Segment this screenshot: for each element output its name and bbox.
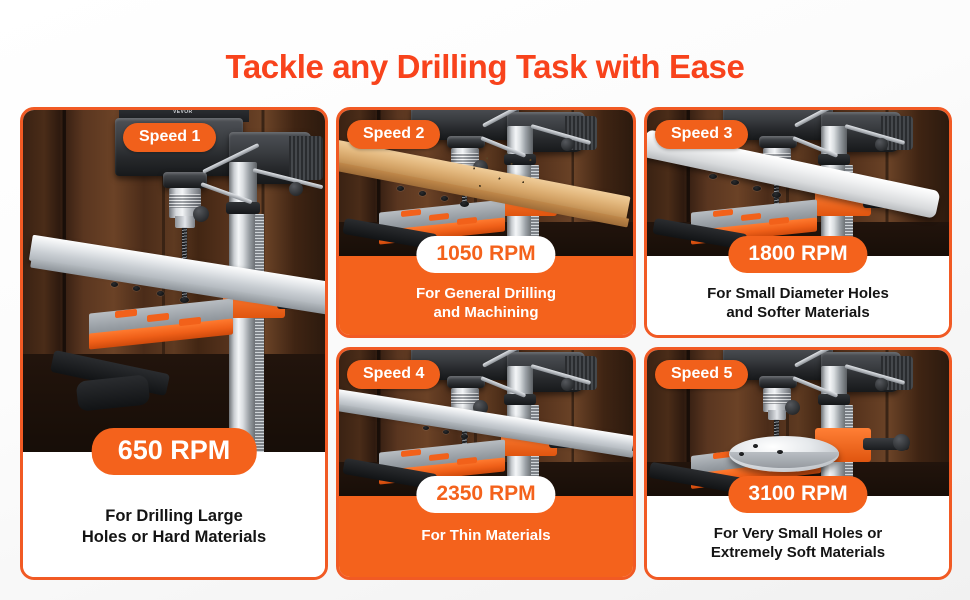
speed-panel-2[interactable]: Speed 2 1050 RPM For General Drilling an… (336, 107, 636, 338)
panel-description-5: For Very Small Holes or Extremely Soft M… (647, 524, 949, 562)
speed-badge-5: Speed 5 (655, 360, 748, 389)
speed-badge-4: Speed 4 (347, 360, 440, 389)
drill-press-photo-1: VEVOR (23, 110, 325, 458)
rpm-badge-3: 1800 RPM (728, 236, 867, 273)
rpm-badge-4: 2350 RPM (416, 476, 555, 513)
speed-badge-2: Speed 2 (347, 120, 440, 149)
rpm-badge-5: 3100 RPM (728, 476, 867, 513)
panel-footer-5: 3100 RPM For Very Small Holes or Extreme… (647, 496, 949, 577)
rpm-badge-1: 650 RPM (92, 428, 257, 475)
rpm-badge-2: 1050 RPM (416, 236, 555, 273)
sawdust-particles (467, 150, 539, 196)
panel-footer-4: 2350 RPM For Thin Materials (339, 496, 633, 577)
panel-description-3: For Small Diameter Holes and Softer Mate… (647, 284, 949, 322)
speed-panel-3[interactable]: Speed 3 1800 RPM For Small Diameter Hole… (644, 107, 952, 338)
speed-panel-1[interactable]: VEVOR (20, 107, 328, 580)
panel-footer-2: 1050 RPM For General Drilling and Machin… (339, 256, 633, 335)
panel-description-1: For Drilling Large Holes or Hard Materia… (23, 506, 325, 549)
speed-badge-1: Speed 1 (123, 123, 216, 152)
speed-panel-4[interactable]: Speed 4 2350 RPM For Thin Materials (336, 347, 636, 580)
drill-press-illustration: VEVOR (23, 110, 325, 458)
page-title: Tackle any Drilling Task with Ease (0, 48, 970, 86)
panel-description-2: For General Drilling and Machining (339, 284, 633, 322)
panel-description-4: For Thin Materials (339, 526, 633, 545)
speed-panel-grid: VEVOR (20, 107, 952, 580)
panel-footer-1: 650 RPM For Drilling Large Holes or Hard… (23, 452, 325, 577)
speed-panel-5[interactable]: Speed 5 3100 RPM For Very Small Holes or… (644, 347, 952, 580)
speed-badge-3: Speed 3 (655, 120, 748, 149)
panel-footer-3: 1800 RPM For Small Diameter Holes and So… (647, 256, 949, 335)
